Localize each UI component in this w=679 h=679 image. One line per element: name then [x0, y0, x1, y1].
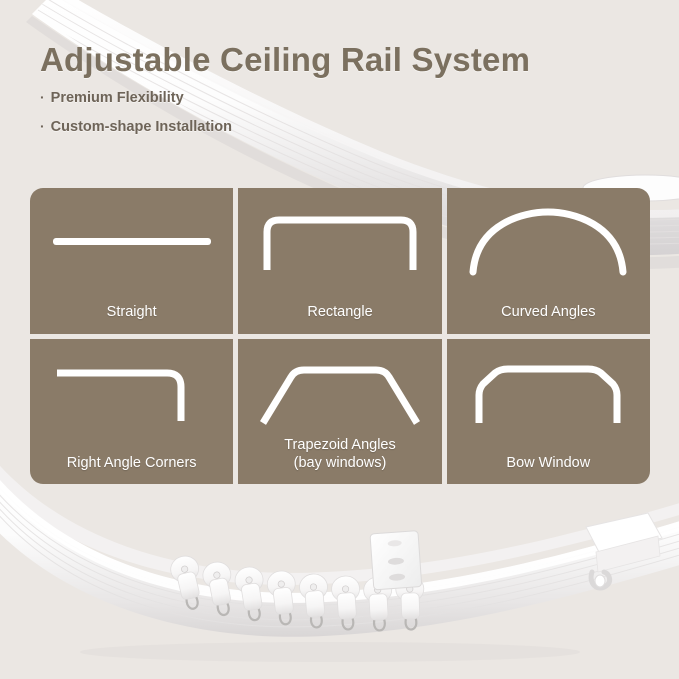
- list-item: · Premium Flexibility: [40, 90, 530, 106]
- right-angle-corner-shape: [30, 345, 233, 437]
- bullet-label: Premium Flexibility: [51, 90, 184, 106]
- shape-cell-bow-window: Bow Window: [447, 339, 650, 485]
- shape-cell-label: Trapezoid Angles (bay windows): [284, 436, 396, 472]
- shape-cell-label: Bow Window: [506, 454, 590, 472]
- feature-bullet-list: · Premium Flexibility · Custom-shape Ins…: [40, 90, 530, 135]
- bullet-marker-icon: ·: [40, 90, 45, 104]
- bullet-label: Custom-shape Installation: [51, 119, 232, 135]
- shape-cell-straight: Straight: [30, 188, 233, 334]
- shape-cell-label: Right Angle Corners: [67, 454, 197, 472]
- bow-window-shape: [447, 345, 650, 437]
- shape-cell-rectangle: Rectangle: [238, 188, 441, 334]
- arch-curve-shape: [447, 194, 650, 286]
- shape-cell-label: Rectangle: [307, 303, 372, 321]
- shape-cell-label: Curved Angles: [501, 303, 595, 321]
- infographic-canvas: Adjustable Ceiling Rail System · Premium…: [0, 0, 679, 679]
- end-cap-stopper: [586, 513, 662, 588]
- shape-cell-label: Straight: [107, 303, 157, 321]
- list-item: · Custom-shape Installation: [40, 119, 530, 135]
- roller-carriers: [168, 553, 425, 631]
- rectangle-shape: [238, 194, 441, 286]
- straight-line-shape: [30, 194, 233, 286]
- page-title: Adjustable Ceiling Rail System: [40, 42, 530, 78]
- shape-cell-right-angle-corners: Right Angle Corners: [30, 339, 233, 485]
- mounting-bracket: [370, 531, 422, 590]
- trapezoid-shape: [238, 345, 441, 437]
- shape-options-grid: Straight Rectangle Curved Angles: [30, 188, 650, 484]
- header-block: Adjustable Ceiling Rail System · Premium…: [40, 42, 530, 148]
- bullet-marker-icon: ·: [40, 119, 45, 133]
- shape-cell-curved-angles: Curved Angles: [447, 188, 650, 334]
- shape-cell-trapezoid-angles: Trapezoid Angles (bay windows): [238, 339, 441, 485]
